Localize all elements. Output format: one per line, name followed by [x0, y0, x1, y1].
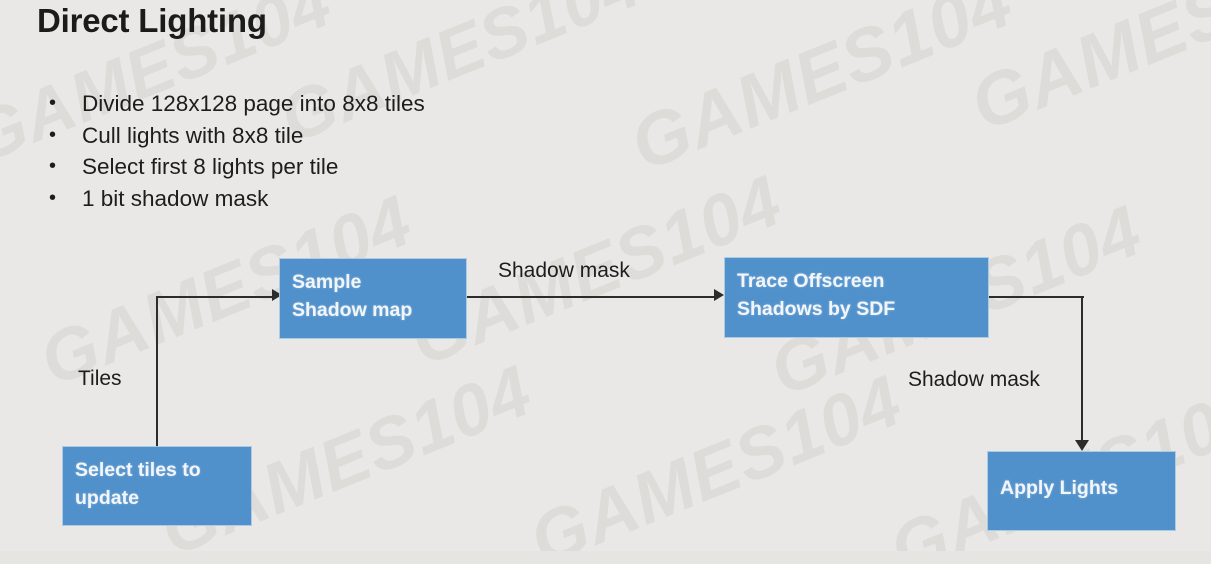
watermark-text: GAMES104	[519, 360, 913, 564]
page-title: Direct Lighting	[37, 2, 267, 40]
diagram-node-select-tiles-to-update[interactable]: Select tiles toupdate	[63, 447, 251, 525]
bullet-marker-icon: •	[49, 183, 56, 215]
list-item: • Divide 128x128 page into 8x8 tiles	[44, 88, 684, 120]
list-item-label: 1 bit shadow mask	[82, 186, 268, 211]
slide-canvas: GAMES104 GAMES104 GAMES104 GAMES104 GAME…	[0, 0, 1211, 564]
bullet-marker-icon: •	[49, 88, 56, 120]
list-item-label: Cull lights with 8x8 tile	[82, 123, 303, 148]
edge-label-shadow-mask-1: Shadow mask	[498, 259, 630, 283]
list-item: • Cull lights with 8x8 tile	[44, 120, 684, 152]
list-item-label: Divide 128x128 page into 8x8 tiles	[82, 91, 425, 116]
diagram-node-apply-lights[interactable]: Apply Lights	[988, 452, 1175, 530]
bullet-list: • Divide 128x128 page into 8x8 tiles • C…	[44, 88, 684, 214]
connector-sample-to-trace	[466, 296, 716, 298]
list-item: • 1 bit shadow mask	[44, 183, 684, 215]
diagram-node-label: Apply Lights	[1000, 474, 1169, 502]
edge-label-shadow-mask-2: Shadow mask	[908, 368, 1040, 392]
diagram-node-sample-shadow-map[interactable]: SampleShadow map	[280, 259, 466, 338]
bullet-marker-icon: •	[49, 151, 56, 183]
list-item-label: Select first 8 lights per tile	[82, 154, 338, 179]
diagram-node-label: Select tiles toupdate	[75, 456, 245, 512]
diagram-node-label: Trace OffscreenShadows by SDF	[737, 267, 982, 323]
connector-trace-to-apply-vertical	[1081, 296, 1083, 442]
watermark-text: GAMES104	[959, 0, 1211, 147]
arrowhead-right-icon	[714, 289, 724, 301]
slide-bottom-band	[0, 551, 1211, 564]
connector-select-to-sample-horizontal	[156, 296, 274, 298]
arrowhead-down-icon	[1075, 440, 1089, 451]
edge-label-tiles: Tiles	[78, 367, 122, 391]
diagram-node-label: SampleShadow map	[292, 268, 460, 324]
connector-trace-to-apply-horizontal	[988, 296, 1084, 298]
bullet-marker-icon: •	[49, 120, 56, 152]
connector-select-to-sample-vertical	[156, 297, 158, 449]
list-item: • Select first 8 lights per tile	[44, 151, 684, 183]
diagram-node-trace-offscreen-shadows[interactable]: Trace OffscreenShadows by SDF	[725, 258, 988, 337]
